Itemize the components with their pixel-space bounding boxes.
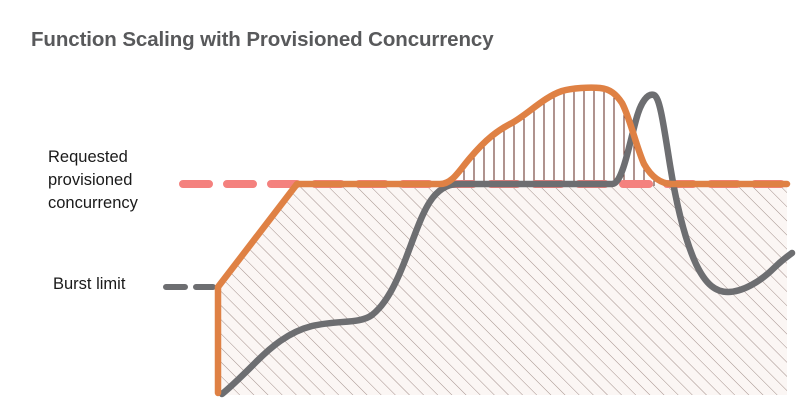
diagram-canvas: Function Scaling with Provisioned Concur… bbox=[0, 0, 807, 407]
legend-requested-provisioned-concurrency-label: Requested provisioned concurrency bbox=[48, 146, 138, 215]
legend-burst-limit-label: Burst limit bbox=[53, 273, 125, 296]
provisioned-capacity-region bbox=[210, 175, 795, 400]
